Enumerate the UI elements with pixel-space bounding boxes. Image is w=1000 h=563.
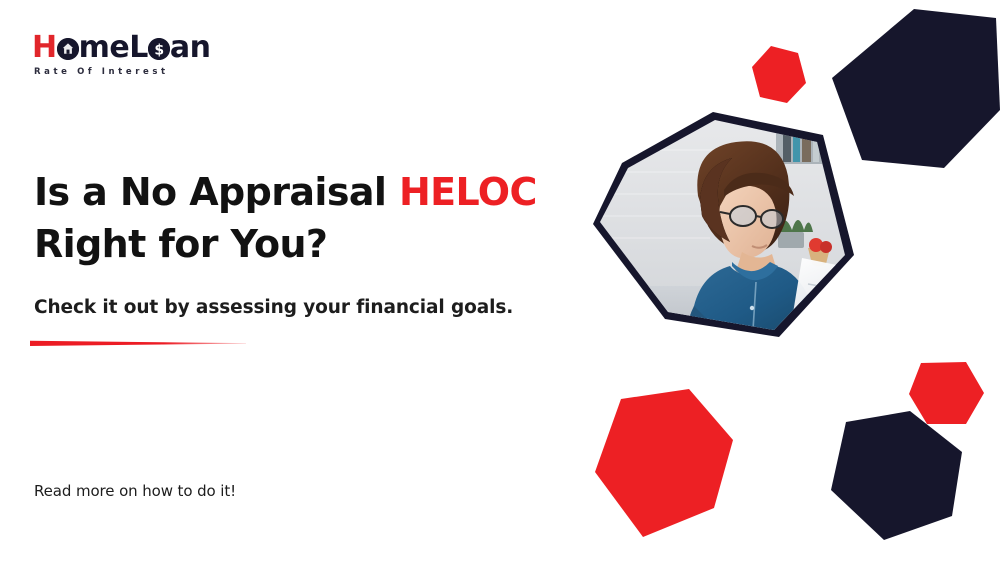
dollar-sign-icon: $ [148,38,170,60]
logo-letters-an: an [170,33,211,63]
logo-wordmark: H me L $ an [32,33,210,63]
house-icon [57,38,79,60]
headline-line1-text: Is a No Appraisal [34,170,399,214]
hexagon-red-top [752,46,806,103]
hexagon-navy-top-right [832,9,1000,168]
logo-letter-l: L [129,33,148,63]
page-title: Is a No Appraisal HELOC Right for You? [34,166,574,271]
hero-artwork [580,0,1000,563]
subheadline: Check it out by assessing your financial… [34,297,594,318]
svg-text:$: $ [154,42,163,58]
logo-tagline: Rate Of Interest [34,67,210,77]
logo-letters-me: me [79,33,130,63]
promo-banner: H me L $ an Rate Of Interest Is a No App… [0,0,1000,563]
headline-accent-heloc: HELOC [399,170,537,214]
hero-photo [580,100,880,408]
brand-logo[interactable]: H me L $ an Rate Of Interest [32,33,210,77]
red-divider [30,340,246,347]
headline-line2-text: Right for You? [34,222,327,266]
hexagon-red-right-small [909,362,984,424]
logo-letter-h: H [32,33,57,63]
hexagon-navy-bottom-right [831,411,962,540]
read-more-text[interactable]: Read more on how to do it! [34,482,236,500]
hexagon-red-bottom-left [595,389,733,537]
